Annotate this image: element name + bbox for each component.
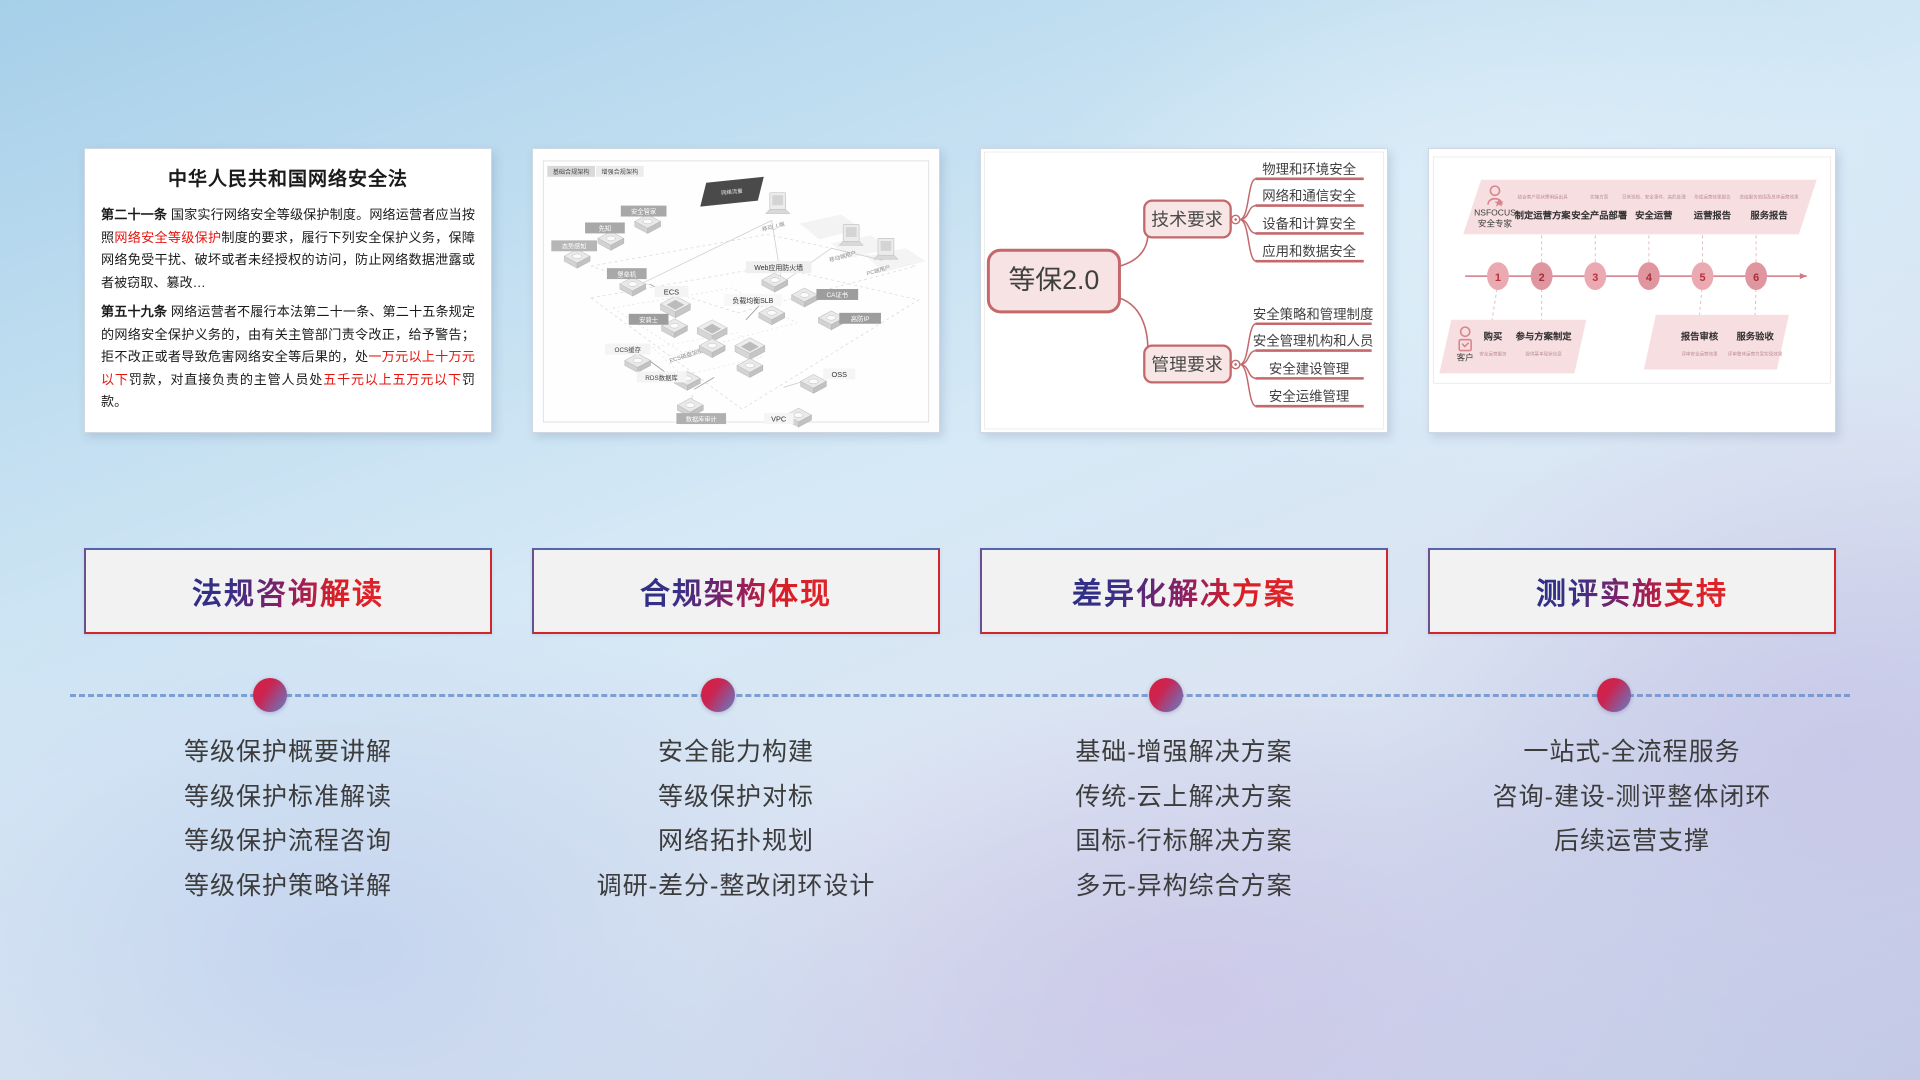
card-dengbao-mindmap: 等保2.0 技术要求 物理和环境安全 网络和通信安全 <box>980 148 1388 433</box>
list-item: 国标-行标解决方案 <box>1075 824 1292 860</box>
arch-node-label-4: 堡垒机 <box>617 269 637 278</box>
card-service-process: NSFOCUS 安全专家 客户 制定运营方案 结合客户现状需明后出具 安全产品部… <box>1428 148 1836 433</box>
headline-label-3: 测评实施支持 <box>1536 569 1728 613</box>
headline-box-1[interactable]: 合规架构体现 <box>532 548 940 634</box>
process-top-item-2-title: 安全运营 <box>1635 210 1672 221</box>
process-timeline-diagram: NSFOCUS 安全专家 客户 制定运营方案 结合客户现状需明后出具 安全产品部… <box>1429 149 1835 432</box>
mindmap-branch-1-leaf-3: 安全运维管理 <box>1269 388 1349 404</box>
timeline-dot-1 <box>701 678 735 712</box>
process-top-item-0-title: 制定运营方案 <box>1515 210 1572 221</box>
process-top-item-4-sub: 总结服务范围及总体运营效果 <box>1739 194 1799 201</box>
arch-tab-enhanced: 增强合规架构 <box>601 168 638 176</box>
mindmap-branch-0-title: 技术要求 <box>1151 209 1223 229</box>
list-item: 安全能力构建 <box>658 735 814 771</box>
card-compliance-architecture: 基础合规架构 增强合规架构 <box>532 148 940 433</box>
law-highlight-21: 网络安全等级保护 <box>114 230 221 245</box>
list-item: 调研-差分-整改闭环设计 <box>597 869 876 905</box>
law-highlight-59-b: 五千元以上五万元以下 <box>323 372 462 387</box>
headline-box-2[interactable]: 差异化解决方案 <box>980 548 1388 634</box>
list-item: 等级保护流程咨询 <box>184 824 392 860</box>
process-bottom-item-3-sub: 评审整体运营方案实现效果 <box>1728 351 1783 358</box>
headline-boxes-row: 法规咨询解读 合规架构体现 差异化解决方案 测评实施支持 <box>0 548 1920 634</box>
headline-label-2: 差异化解决方案 <box>1072 569 1296 613</box>
arch-node-label-6: 安骑士 <box>639 315 659 324</box>
process-bottom-item-2-title: 报告审核 <box>1681 331 1719 342</box>
headline-box-3[interactable]: 测评实施支持 <box>1428 548 1836 634</box>
timeline-dot-0 <box>253 678 287 712</box>
arch-node-label-9: 数据库审计 <box>686 415 717 423</box>
list-item: 基础-增强解决方案 <box>1075 735 1292 771</box>
mindmap-branch-1-leaf-1: 安全管理机构和人员 <box>1253 333 1374 349</box>
law-article-label-59: 第五十九条 <box>101 304 167 319</box>
arch-node-label-15: 高防IP <box>851 314 870 323</box>
arch-node-label-7: OCS缓存 <box>615 345 642 354</box>
arch-node-label-19: VPC <box>771 415 787 424</box>
law-paragraph-21: 第二十一条 国家实行网络安全等级保护制度。网络运营者应当按照网络安全等级保护制度… <box>101 204 475 294</box>
arch-node-label-3: 态势感知 <box>562 242 587 250</box>
arch-node-label-12: Web应用防火墙 <box>754 263 803 272</box>
mindmap-branch-0-leaf-1: 网络和通信安全 <box>1262 188 1356 204</box>
process-step-3-number: 4 <box>1646 272 1652 284</box>
process-bottom-item-2-sub: 评审安全运营效果 <box>1681 351 1718 358</box>
process-bottom-item-1-sub: 提供基本现状信息 <box>1525 351 1562 358</box>
timeline-dot-3 <box>1597 678 1631 712</box>
process-step-5-number: 6 <box>1753 272 1759 284</box>
process-bottom-item-0-title: 购买 <box>1484 331 1503 342</box>
arch-node-label-5: ECS <box>664 287 680 296</box>
list-item: 传统-云上解决方案 <box>1075 780 1292 816</box>
law-text-59-b: 罚款，对直接负责的主管人员处 <box>129 372 323 387</box>
process-top-item-3-sub: 形成运营效果报告 <box>1694 194 1731 201</box>
detail-column-3: 一站式-全流程服务 咨询-建设-测评整体闭环 后续运营支撑 <box>1428 735 1836 965</box>
arch-tab-basic: 基础合规架构 <box>553 168 590 176</box>
arch-node-label-11: 负载均衡SLB <box>732 296 773 305</box>
law-paragraph-59: 第五十九条 网络运营者不履行本法第二十一条、第二十五条规定的网络安全保护义务的，… <box>101 301 475 414</box>
process-top-actor-role: NSFOCUS <box>1474 208 1516 218</box>
detail-column-1: 安全能力构建 等级保护对标 网络拓扑规划 调研-差分-整改闭环设计 <box>532 735 940 965</box>
list-item: 网络拓扑规划 <box>658 824 814 860</box>
process-step-0-number: 1 <box>1495 272 1501 284</box>
process-step-4-number: 5 <box>1699 272 1705 284</box>
mindmap-branch-1-leaf-0: 安全策略和管理制度 <box>1253 306 1374 322</box>
headline-box-0[interactable]: 法规咨询解读 <box>84 548 492 634</box>
process-top-item-0-sub: 结合客户现状需明后出具 <box>1518 194 1568 201</box>
mindmap-branch-0-leaf-0: 物理和环境安全 <box>1262 161 1356 177</box>
arch-node-label-18: OSS <box>832 370 848 379</box>
list-item: 多元-异构综合方案 <box>1075 869 1292 905</box>
list-item: 咨询-建设-测评整体闭环 <box>1493 780 1772 816</box>
process-bottom-actor-role: 客户 <box>1457 353 1474 363</box>
list-item: 等级保护概要讲解 <box>184 735 392 771</box>
process-top-item-2-sub: 日常巡检、安全事件、高危处理 <box>1622 194 1686 201</box>
list-item: 等级保护对标 <box>658 780 814 816</box>
detail-column-2: 基础-增强解决方案 传统-云上解决方案 国标-行标解决方案 多元-异构综合方案 <box>980 735 1388 965</box>
card-cybersecurity-law: 中华人民共和国网络安全法 第二十一条 国家实行网络安全等级保护制度。网络运营者应… <box>84 148 492 433</box>
process-top-item-1-title: 安全产品部署 <box>1571 210 1628 221</box>
process-top-item-1-sub: 实施方案 <box>1590 194 1609 201</box>
arch-node-label-2: 先知 <box>599 224 612 233</box>
timeline-dashed-line <box>70 694 1850 698</box>
process-bottom-item-0-sub: 安全运营服务 <box>1479 351 1507 358</box>
process-bottom-item-1-title: 参与方案制定 <box>1516 331 1573 342</box>
process-bottom-item-3-title: 服务验收 <box>1736 331 1774 342</box>
arch-node-label-1: 安全管家 <box>631 207 657 216</box>
list-item: 后续运营支撑 <box>1554 824 1710 860</box>
mindmap-branch-1-leaf-2: 安全建设管理 <box>1269 360 1349 376</box>
process-step-1-number: 2 <box>1539 272 1545 284</box>
arch-node-label-8: RDS数据库 <box>645 373 678 382</box>
headline-label-1: 合规架构体现 <box>640 569 832 613</box>
arch-node-label-14: CA证书 <box>827 290 849 299</box>
process-top-actor-sub: 安全专家 <box>1478 218 1513 228</box>
timeline-dot-2 <box>1149 678 1183 712</box>
list-item: 等级保护策略详解 <box>184 869 392 905</box>
mindmap-branch-0-leaf-2: 设备和计算安全 <box>1262 215 1356 231</box>
reference-cards-row: 中华人民共和国网络安全法 第二十一条 国家实行网络安全等级保护制度。网络运营者应… <box>0 148 1920 444</box>
list-item: 等级保护标准解读 <box>184 780 392 816</box>
law-title: 中华人民共和国网络安全法 <box>101 164 475 191</box>
mindmap-root-label: 等保2.0 <box>1008 265 1099 295</box>
process-top-item-4-title: 服务报告 <box>1750 210 1787 221</box>
law-article-label-21: 第二十一条 <box>101 207 167 222</box>
headline-label-0: 法规咨询解读 <box>192 569 384 613</box>
process-top-item-3-title: 运营报告 <box>1694 210 1731 221</box>
list-item: 一站式-全流程服务 <box>1523 735 1740 771</box>
mindmap-branch-0-leaf-3: 应用和数据安全 <box>1262 243 1356 259</box>
process-step-2-number: 3 <box>1592 272 1598 284</box>
detail-column-0: 等级保护概要讲解 等级保护标准解读 等级保护流程咨询 等级保护策略详解 <box>84 735 492 965</box>
mindmap-diagram: 等保2.0 技术要求 物理和环境安全 网络和通信安全 <box>981 149 1387 432</box>
detail-columns-row: 等级保护概要讲解 等级保护标准解读 等级保护流程咨询 等级保护策略详解 安全能力… <box>0 735 1920 965</box>
architecture-diagram: 基础合规架构 增强合规架构 <box>533 149 939 432</box>
mindmap-branch-1-title: 管理要求 <box>1151 354 1223 374</box>
